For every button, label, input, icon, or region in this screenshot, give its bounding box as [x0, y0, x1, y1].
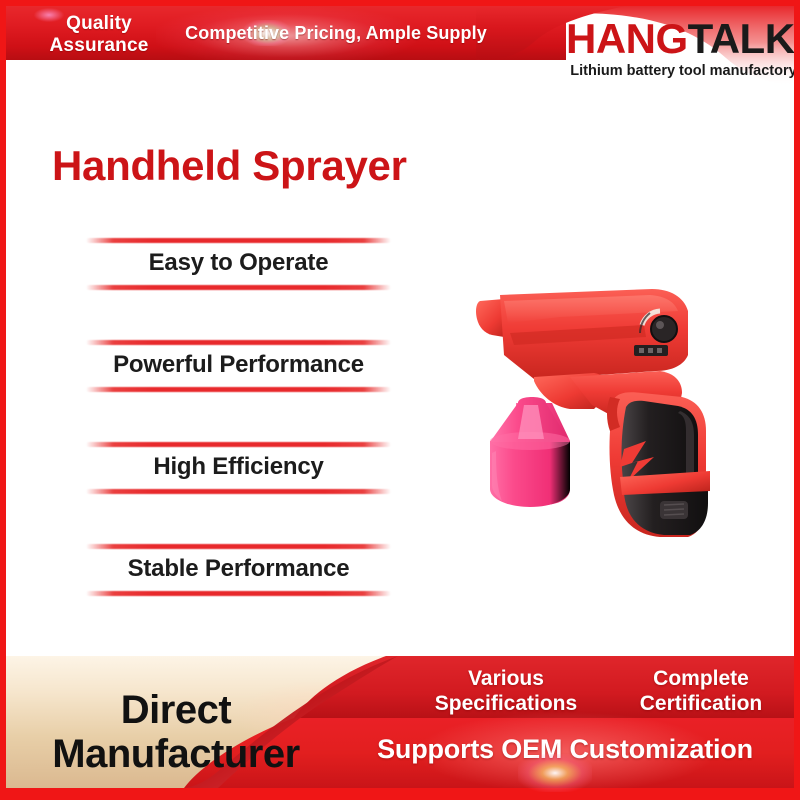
registered-trademark-icon: ® [795, 26, 800, 41]
feature-rule-top [86, 238, 391, 243]
quality-line-2: Assurance [24, 35, 174, 57]
feature-item: Stable Performance [86, 544, 391, 596]
oem-customization-text: Supports OEM Customization [336, 734, 794, 765]
header-slogan: Competitive Pricing, Ample Supply [176, 23, 496, 44]
various-line-2: Specifications [391, 691, 621, 716]
brand-logo-talk: TALK [688, 15, 795, 62]
brand-logo-wordmark: HANGTALK® [566, 12, 800, 61]
feature-rule-bottom [86, 387, 391, 392]
footer-banner: Direct Manufacturer Various Specificatio… [6, 656, 794, 794]
feature-list: Easy to Operate Powerful Performance Hig… [86, 238, 391, 646]
feature-rule-bottom [86, 489, 391, 494]
sprayer-tank [490, 397, 570, 507]
header-banner: Quality Assurance Competitive Pricing, A… [6, 6, 800, 86]
quality-assurance-text: Quality Assurance [24, 13, 174, 57]
feature-rule-bottom [86, 591, 391, 596]
various-line-1: Various [391, 666, 621, 691]
feature-rule-bottom [86, 285, 391, 290]
page-title: Handheld Sprayer [52, 142, 407, 190]
feature-label: Powerful Performance [86, 351, 391, 379]
feature-rule-top [86, 544, 391, 549]
product-image-spray-gun [474, 281, 734, 561]
feature-label: High Efficiency [86, 453, 391, 481]
feature-label: Easy to Operate [86, 249, 391, 277]
various-specifications-text: Various Specifications [391, 666, 621, 716]
feature-rule-top [86, 442, 391, 447]
direct-manufacturer-text: Direct Manufacturer [16, 688, 336, 776]
direct-line-1: Direct [16, 688, 336, 732]
complete-certification-text: Complete Certification [606, 666, 794, 716]
brand-logo: HANGTALK® Lithium battery tool manufacto… [566, 12, 800, 80]
feature-item: Powerful Performance [86, 340, 391, 392]
feature-label: Stable Performance [86, 555, 391, 583]
direct-line-2: Manufacturer [16, 732, 336, 776]
feature-item: Easy to Operate [86, 238, 391, 290]
product-poster: Quality Assurance Competitive Pricing, A… [0, 0, 800, 800]
complete-line-1: Complete [606, 666, 794, 691]
feature-rule-top [86, 340, 391, 345]
brand-logo-hang: HANG [566, 15, 688, 62]
brand-logo-tagline: Lithium battery tool manufactory [566, 62, 800, 80]
complete-line-2: Certification [606, 691, 794, 716]
quality-line-1: Quality [24, 13, 174, 35]
feature-item: High Efficiency [86, 442, 391, 494]
